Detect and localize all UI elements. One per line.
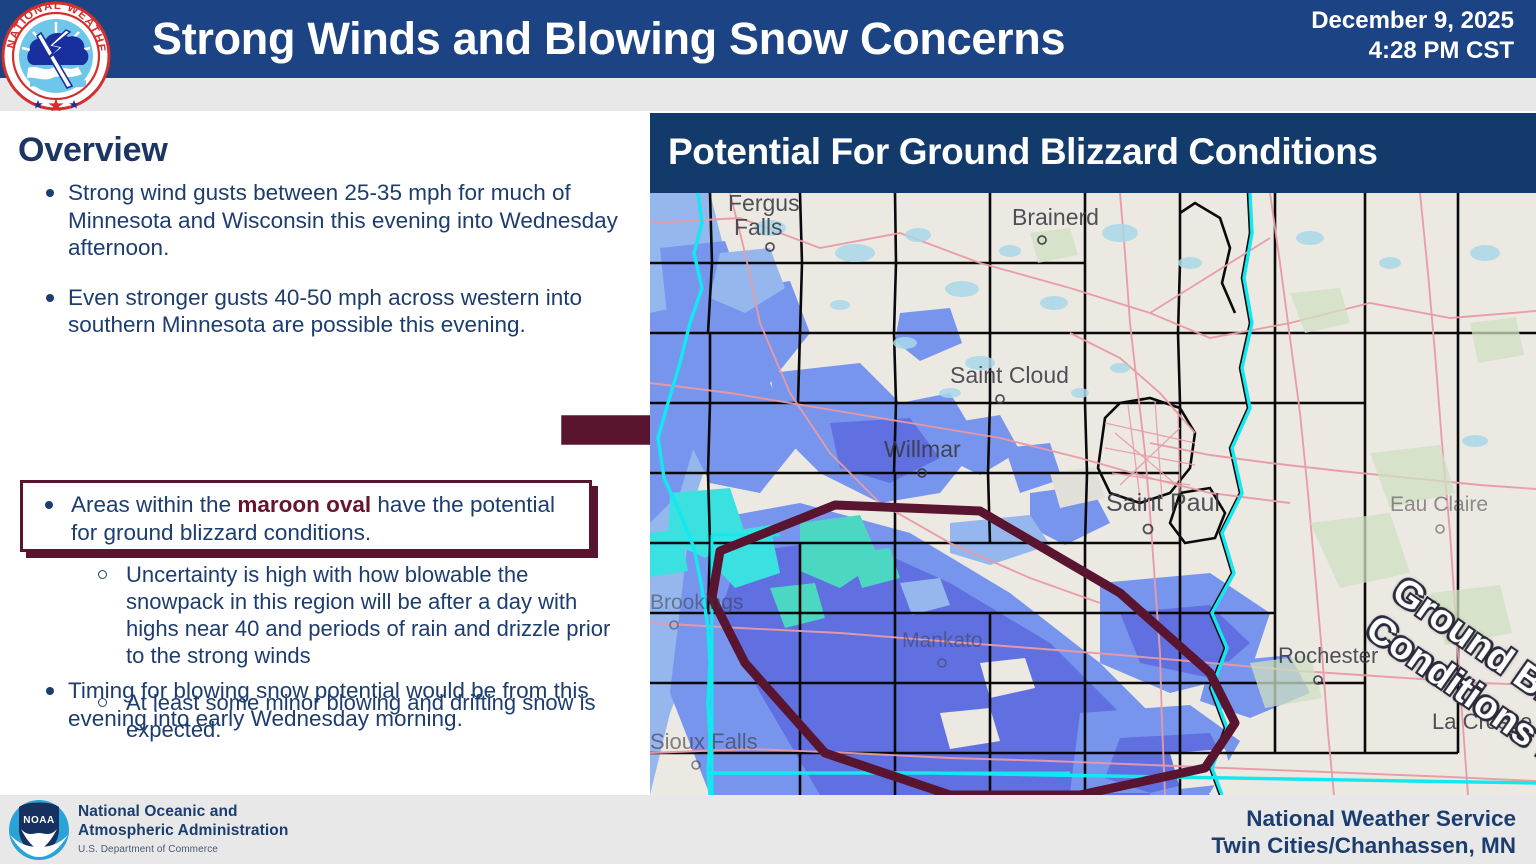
svg-text:Sioux Falls: Sioux Falls [650, 729, 758, 754]
callout-emphasis: maroon oval [237, 492, 371, 517]
page-title: Strong Winds and Blowing Snow Concerns [152, 8, 1242, 70]
svg-text:Mankato: Mankato [902, 629, 983, 652]
bullet-text: Even stronger gusts 40-50 mph across wes… [68, 285, 582, 338]
noaa-agency-text: National Oceanic and Atmospheric Adminis… [78, 803, 288, 855]
noaa-seal-logo: NOAA [8, 799, 70, 861]
sub-bullet-text: Uncertainty is high with how blowable th… [126, 562, 610, 668]
bullet-dot-icon [45, 501, 53, 509]
bullet-dot-icon [46, 294, 54, 302]
nws-office-line-1: National Weather Service [1211, 805, 1516, 832]
svg-text:Brainerd: Brainerd [1012, 204, 1099, 230]
map-canvas[interactable]: Fergus Falls Brainerd Saint Cloud Willma… [650, 193, 1536, 795]
bullet-item: Strong wind gusts between 25-35 mph for … [20, 179, 630, 262]
svg-text:Brookings: Brookings [650, 591, 743, 614]
nws-office-line-2: Twin Cities/Chanhassen, MN [1211, 832, 1516, 859]
header-date: December 9, 2025 [1311, 6, 1514, 36]
slide: Strong Winds and Blowing Snow Concerns D… [0, 0, 1536, 864]
nws-office-text: National Weather Service Twin Cities/Cha… [1211, 805, 1516, 859]
sub-bullet-ring-icon [98, 570, 107, 579]
svg-text:NOAA: NOAA [23, 815, 54, 826]
overview-panel: Overview Strong wind gusts between 25-35… [0, 111, 650, 795]
bullet-dot-icon [46, 189, 54, 197]
final-bullet-wrap: Timing for blowing snow potential would … [20, 677, 630, 754]
header-grey-band [0, 78, 1536, 111]
maroon-callout-box: Areas within the maroon oval have the po… [20, 480, 592, 552]
header-datetime: December 9, 2025 4:28 PM CST [1311, 6, 1514, 66]
bullet-item: Timing for blowing snow potential would … [20, 677, 630, 732]
bullet-item: Even stronger gusts 40-50 mph across wes… [20, 284, 630, 339]
callout-prefix: Areas within the [71, 492, 237, 517]
svg-text:Eau Claire: Eau Claire [1390, 493, 1488, 516]
map-title-bar: Potential For Ground Blizzard Conditions [650, 113, 1536, 193]
svg-text:Falls: Falls [734, 214, 783, 240]
footer-bar: NOAA National Oceanic and Atmospheric Ad… [0, 795, 1536, 864]
overview-bullet-list: Strong wind gusts between 25-35 mph for … [20, 179, 630, 361]
svg-text:Fergus: Fergus [728, 193, 800, 216]
svg-text:Saint Cloud: Saint Cloud [950, 362, 1069, 388]
bullet-text: Timing for blowing snow potential would … [68, 678, 589, 731]
header-bar: Strong Winds and Blowing Snow Concerns D… [0, 0, 1536, 78]
svg-text:Saint Paul: Saint Paul [1106, 489, 1220, 517]
sub-bullet-item: Uncertainty is high with how blowable th… [20, 561, 630, 669]
noaa-line-3: U.S. Department of Commerce [78, 844, 288, 855]
noaa-line-2: Atmospheric Administration [78, 822, 288, 841]
header-time: 4:28 PM CST [1311, 36, 1514, 66]
map-title: Potential For Ground Blizzard Conditions [668, 126, 1524, 178]
nws-roundel-logo: NATIONAL WEATHER SERVICE [0, 0, 118, 113]
bullet-text: Strong wind gusts between 25-35 mph for … [68, 180, 618, 260]
callout-content: Areas within the maroon oval have the po… [23, 483, 589, 546]
svg-text:Willmar: Willmar [884, 436, 961, 462]
bullet-dot-icon [46, 687, 54, 695]
map-panel[interactable]: Potential For Ground Blizzard Conditions [650, 113, 1536, 795]
overview-heading: Overview [18, 131, 168, 170]
noaa-line-1: National Oceanic and [78, 803, 288, 822]
